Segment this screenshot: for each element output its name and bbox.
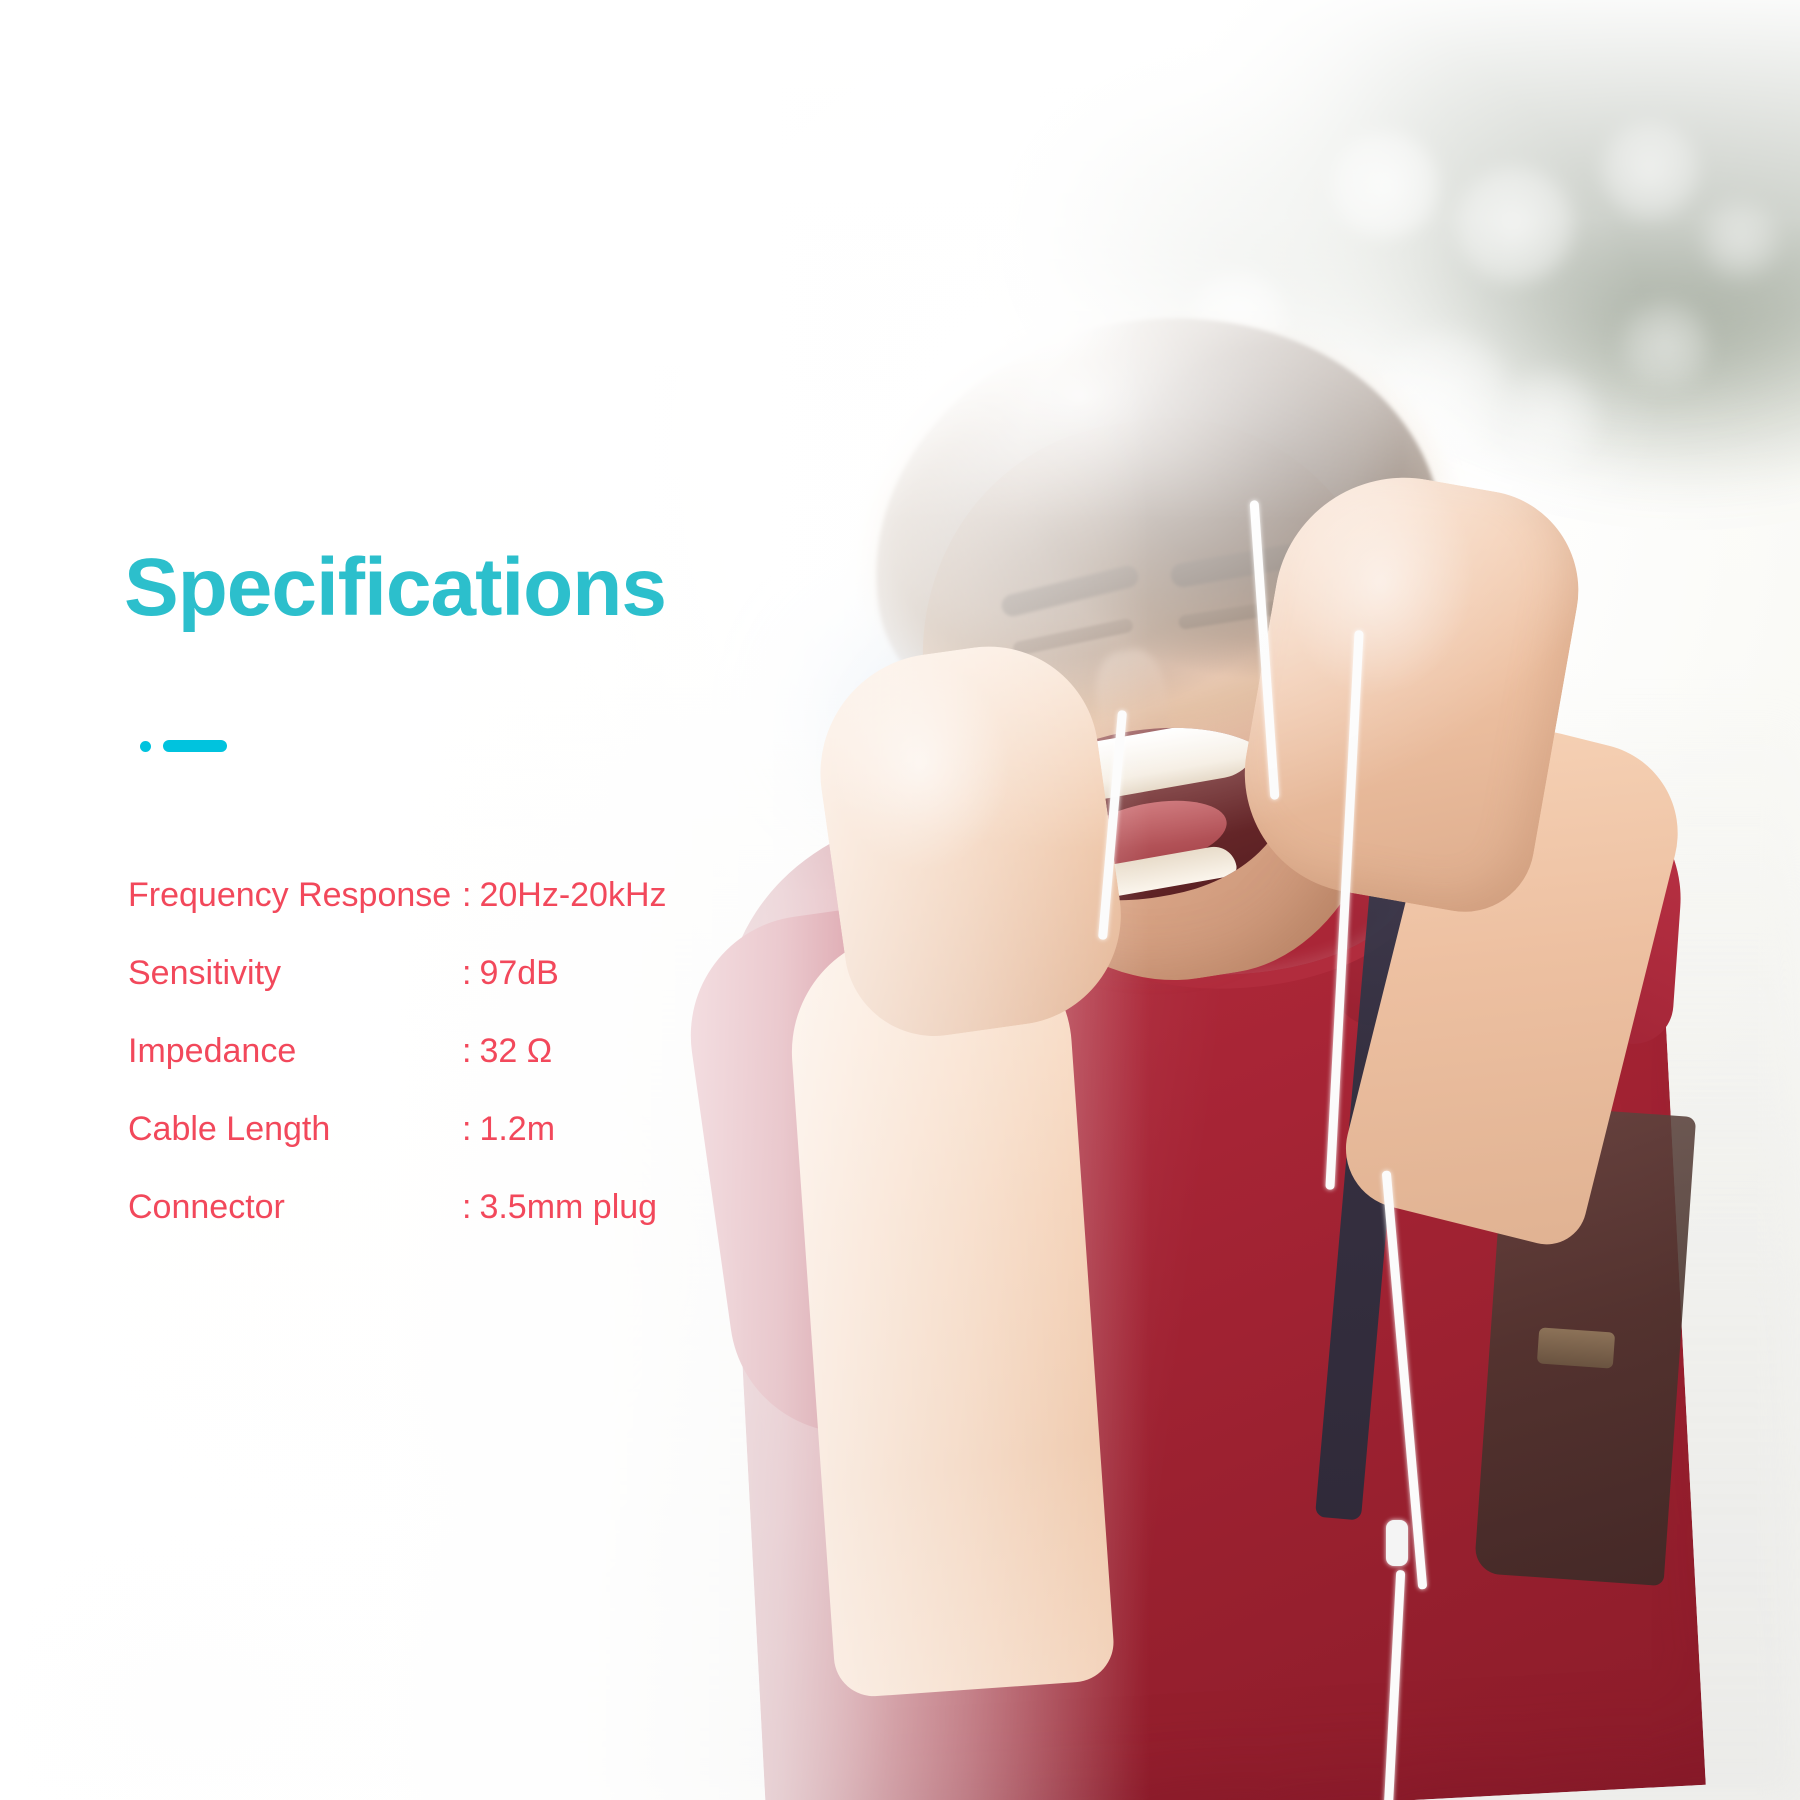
spec-label: Sensitivity [128,948,281,998]
spec-label: Cable Length [128,1104,330,1154]
spec-row-impedance: Impedance :32 Ω [128,1026,888,1104]
divider-dot-icon [140,741,151,752]
spec-separator: : [462,1032,471,1070]
spec-separator: : [462,876,471,914]
spec-label: Connector [128,1182,285,1232]
spec-row-frequency-response: Frequency Response :20Hz-20kHz [128,870,888,948]
spec-row-cable-length: Cable Length :1.2m [128,1104,888,1182]
spec-value: :32 Ω [462,1026,552,1076]
spec-row-sensitivity: Sensitivity :97dB [128,948,888,1026]
title-divider [140,736,370,756]
spec-value: :97dB [462,948,559,998]
spec-separator: : [462,1188,471,1226]
spec-separator: : [462,1110,471,1148]
spec-value: :3.5mm plug [462,1182,657,1232]
divider-bar-icon [163,740,227,752]
spec-value-text: 1.2m [479,1110,555,1148]
spec-label: Impedance [128,1026,296,1076]
specifications-list: Frequency Response :20Hz-20kHz Sensitivi… [128,870,888,1260]
spec-value: :20Hz-20kHz [462,870,667,920]
product-spec-slide: Specifications Frequency Response :20Hz-… [0,0,1800,1800]
spec-value-text: 32 Ω [479,1032,552,1070]
spec-value-text: 3.5mm plug [479,1188,657,1226]
page-title: Specifications [124,547,666,629]
spec-value-text: 97dB [479,954,558,992]
spec-label: Frequency Response [128,870,451,920]
spec-row-connector: Connector :3.5mm plug [128,1182,888,1260]
spec-value-text: 20Hz-20kHz [479,876,666,914]
spec-separator: : [462,954,471,992]
spec-value: :1.2m [462,1104,555,1154]
content-layer: Specifications Frequency Response :20Hz-… [0,0,1800,1800]
